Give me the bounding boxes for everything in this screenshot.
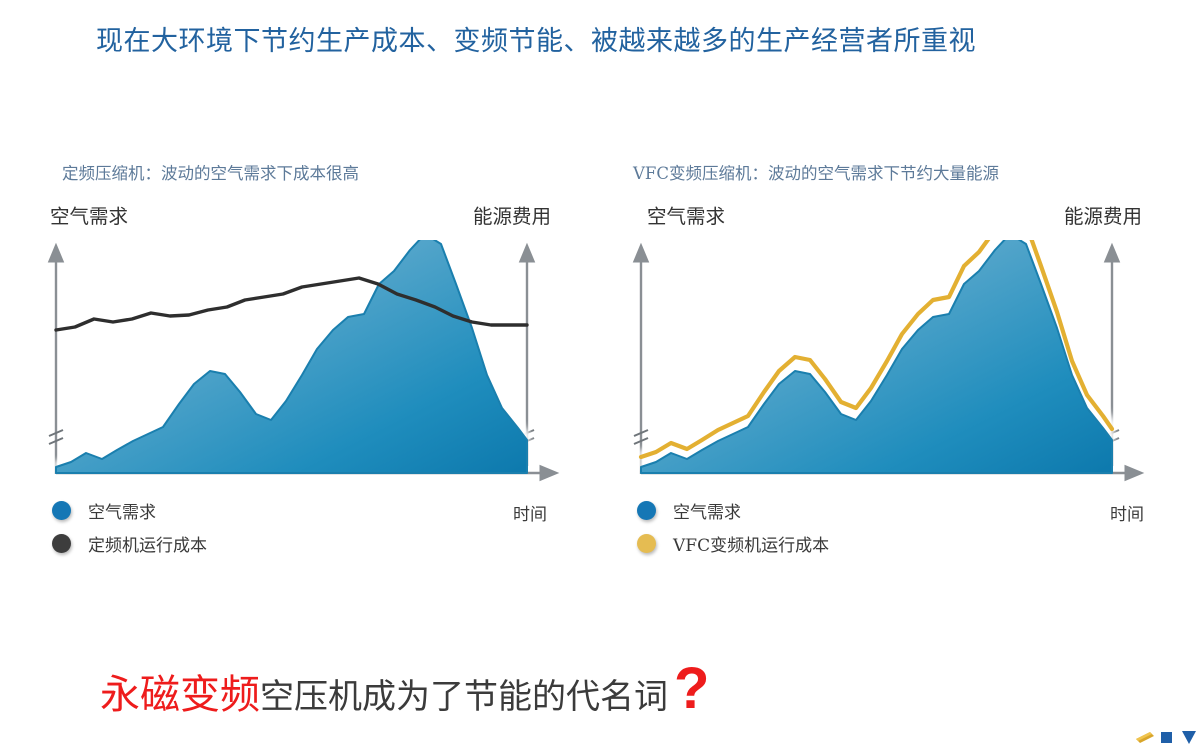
y-axis-label-left-fixed: 空气需求 [50,200,128,229]
legend-label-cost-fixed: 定频机运行成本 [88,531,207,556]
x-axis-label-vfc: 时间 [1110,500,1144,525]
caption-rest: 空压机成为了节能的代名词 [260,677,668,717]
legend-label-cost-vfc: VFC变频机运行成本 [673,531,829,556]
legend-dot-blue-icon [637,501,656,520]
plot-area-fixed-speed [40,240,560,490]
y-axis-label-left-vfc: 空气需求 [647,200,725,229]
legend-label-demand-fixed: 空气需求 [88,498,156,523]
chart-header-fixed-speed: 定频压缩机：波动的空气需求下成本很高 [40,160,565,186]
chart-svg-fixed-speed [40,240,560,490]
legend-fixed-speed: 空气需求 定频机运行成本 时间 [40,494,565,566]
legend-item-demand-vfc[interactable]: 空气需求 [625,494,1150,527]
axis-captions-fixed-speed: 空气需求 能源费用 [40,200,565,240]
page-title: 现在大环境下节约生产成本、变频节能、被越来越多的生产经营者所重视 [96,22,1126,62]
legend-dot-yellow-icon [637,534,656,553]
legend-label-demand-vfc: 空气需求 [673,498,741,523]
legend-vfc: 空气需求 VFC变频机运行成本 时间 [625,494,1150,566]
chart-panel-fixed-speed: 定频压缩机：波动的空气需求下成本很高 空气需求 能源费用 [40,160,565,590]
legend-dot-darkgray-icon [52,534,71,553]
chart-panel-vfc: VFC变频压缩机：波动的空气需求下节约大量能源 空气需求 能源费用 [625,160,1150,590]
caption-highlight: 永磁变频 [100,672,260,718]
legend-item-cost-fixed[interactable]: 定频机运行成本 [40,527,565,560]
legend-item-demand-fixed[interactable]: 空气需求 [40,494,565,527]
plot-area-vfc [625,240,1145,490]
chart-header-vfc: VFC变频压缩机：波动的空气需求下节约大量能源 [625,160,1150,186]
caption-question-mark: ? [674,656,709,721]
legend-dot-blue-icon [52,501,71,520]
x-axis-label-fixed: 时间 [513,500,547,525]
corner-logo-icon [1130,713,1200,747]
y-axis-label-right-fixed: 能源费用 [473,200,551,229]
axis-captions-vfc: 空气需求 能源费用 [625,200,1150,240]
y-axis-label-right-vfc: 能源费用 [1064,200,1142,229]
legend-item-cost-vfc[interactable]: VFC变频机运行成本 [625,527,1150,560]
chart-svg-vfc [625,240,1145,490]
bottom-caption: 永磁变频空压机成为了节能的代名词? [100,655,709,722]
